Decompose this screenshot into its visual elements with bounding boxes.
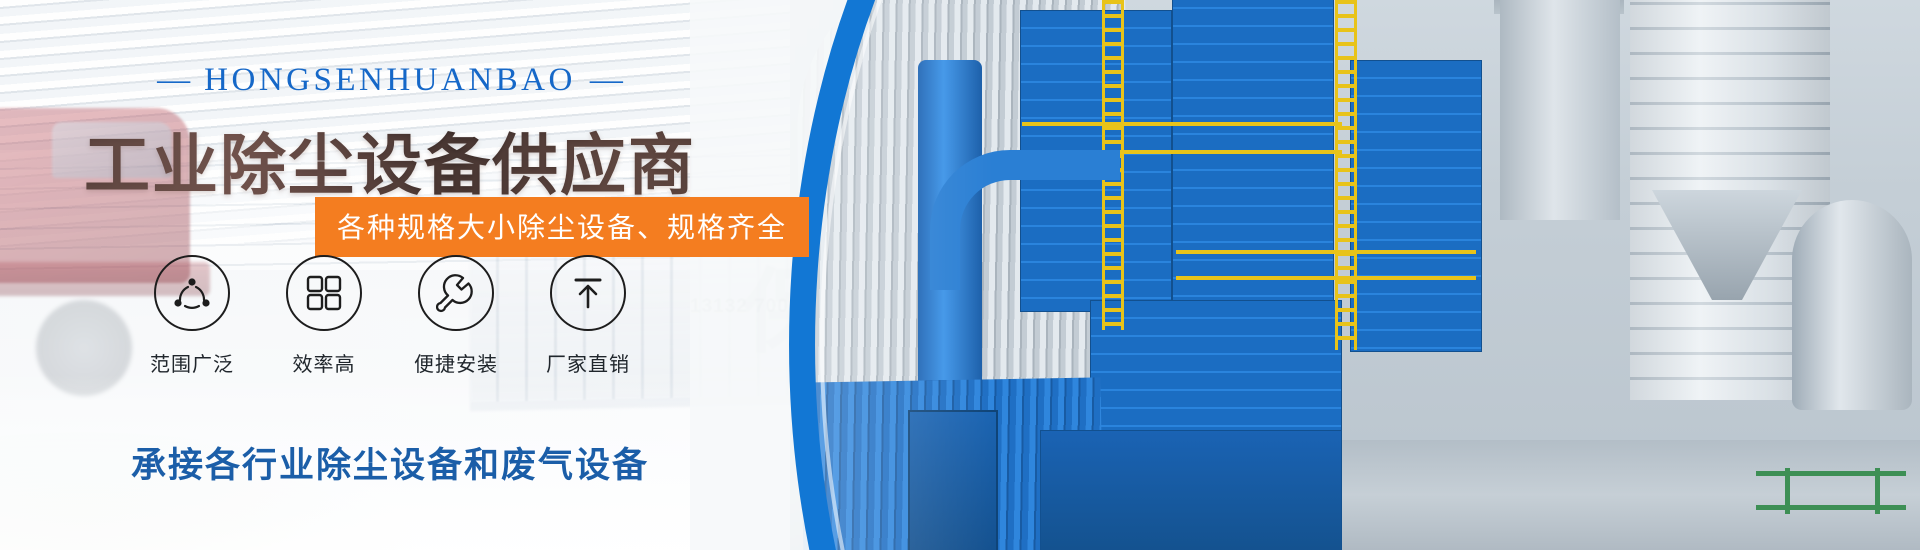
dash-left-icon: — — [143, 62, 204, 98]
upload-arrow-icon — [569, 274, 607, 312]
feature-label: 厂家直销 — [546, 348, 630, 377]
feature-label: 范围广泛 — [150, 348, 234, 377]
hero-content: —HONGSENHUANBAO— 工业除尘设备供应商 各种规格大小除尘设备、规格… — [0, 0, 1060, 550]
feature-item-broad-range[interactable]: 范围广泛 — [154, 255, 230, 377]
feature-icon-circle — [286, 255, 362, 331]
orange-subtitle-banner: 各种规格大小除尘设备、规格齐全 — [315, 197, 809, 257]
hero-tagline: 承接各行业除尘设备和废气设备 — [0, 437, 780, 488]
grid-squares-icon — [305, 274, 343, 312]
brand-name: HONGSENHUANBAO — [204, 62, 576, 98]
orange-subtitle-text: 各种规格大小除尘设备、规格齐全 — [337, 211, 787, 244]
feature-icon-circle — [550, 255, 626, 331]
brand-eyebrow: —HONGSENHUANBAO— — [0, 62, 780, 99]
feature-label: 便捷安装 — [414, 348, 498, 377]
wrench-icon — [436, 273, 476, 313]
feature-item-easy-install[interactable]: 便捷安装 — [418, 255, 494, 377]
page-title: 工业除尘设备供应商 — [0, 112, 780, 208]
feature-icon-circle — [154, 255, 230, 331]
feature-label: 效率高 — [293, 348, 356, 377]
feature-item-high-efficiency[interactable]: 效率高 — [286, 255, 362, 377]
dash-right-icon: — — [576, 62, 637, 98]
feature-list: 范围广泛 效率高 — [0, 255, 780, 377]
hero-banner: 保 13132 7001 — [0, 0, 1920, 550]
feature-icon-circle — [418, 255, 494, 331]
feature-item-factory-direct[interactable]: 厂家直销 — [550, 255, 626, 377]
share-network-icon — [172, 273, 212, 313]
